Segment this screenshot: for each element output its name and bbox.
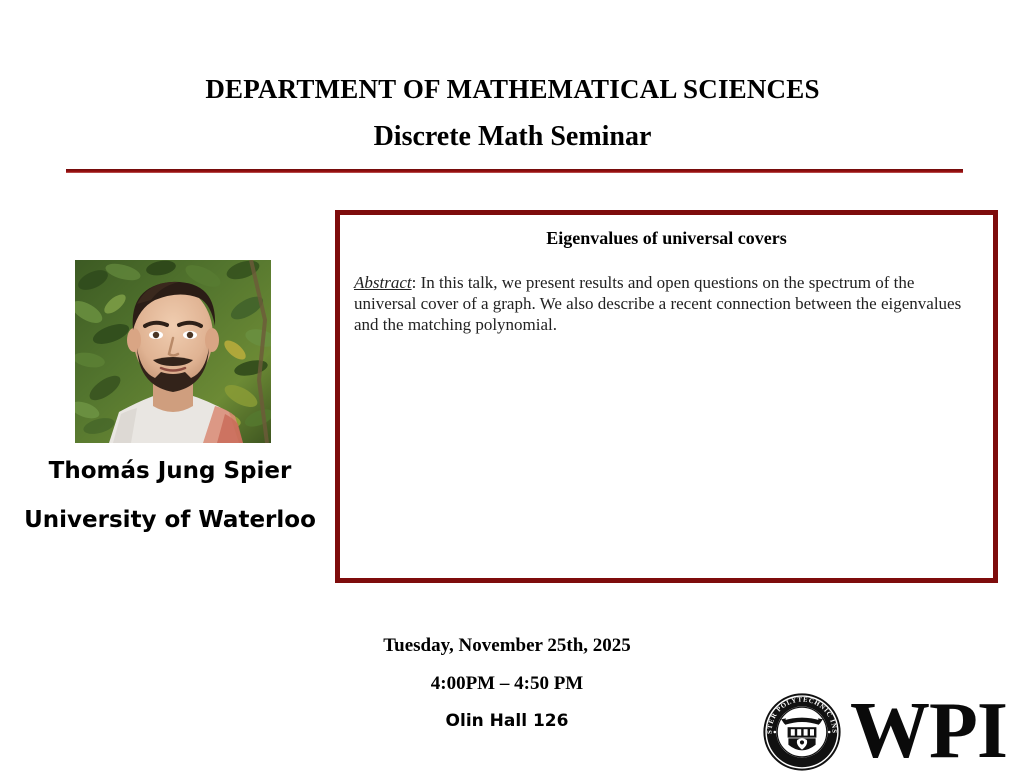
speaker-affiliation: University of Waterloo xyxy=(0,507,340,533)
wpi-seal-icon: WORCESTER POLYTECHNIC INSTITUTE 1865 xyxy=(762,692,842,772)
speaker-name: Thomás Jung Spier xyxy=(0,458,340,484)
talk-title: Eigenvalues of universal covers xyxy=(340,228,993,249)
abstract-panel: Eigenvalues of universal covers Abstract… xyxy=(335,210,998,583)
wpi-wordmark: WPI xyxy=(850,688,1007,774)
department-title: DEPARTMENT OF MATHEMATICAL SCIENCES xyxy=(0,74,1025,105)
portrait-image xyxy=(75,260,271,443)
speaker-photo xyxy=(75,260,271,443)
header-divider-rule xyxy=(66,169,963,173)
abstract-label: Abstract xyxy=(354,273,412,292)
seminar-poster: DEPARTMENT OF MATHEMATICAL SCIENCES Disc… xyxy=(0,0,1025,780)
event-date: Tuesday, November 25th, 2025 xyxy=(0,635,1014,657)
seminar-series-title: Discrete Math Seminar xyxy=(0,121,1025,153)
abstract-text: Abstract: In this talk, we present resul… xyxy=(354,272,979,335)
abstract-label-suffix: : xyxy=(412,273,421,292)
abstract-paragraph: In this talk, we present results and ope… xyxy=(354,273,961,334)
wpi-logo: WORCESTER POLYTECHNIC INSTITUTE 1865 WPI xyxy=(762,690,1012,776)
